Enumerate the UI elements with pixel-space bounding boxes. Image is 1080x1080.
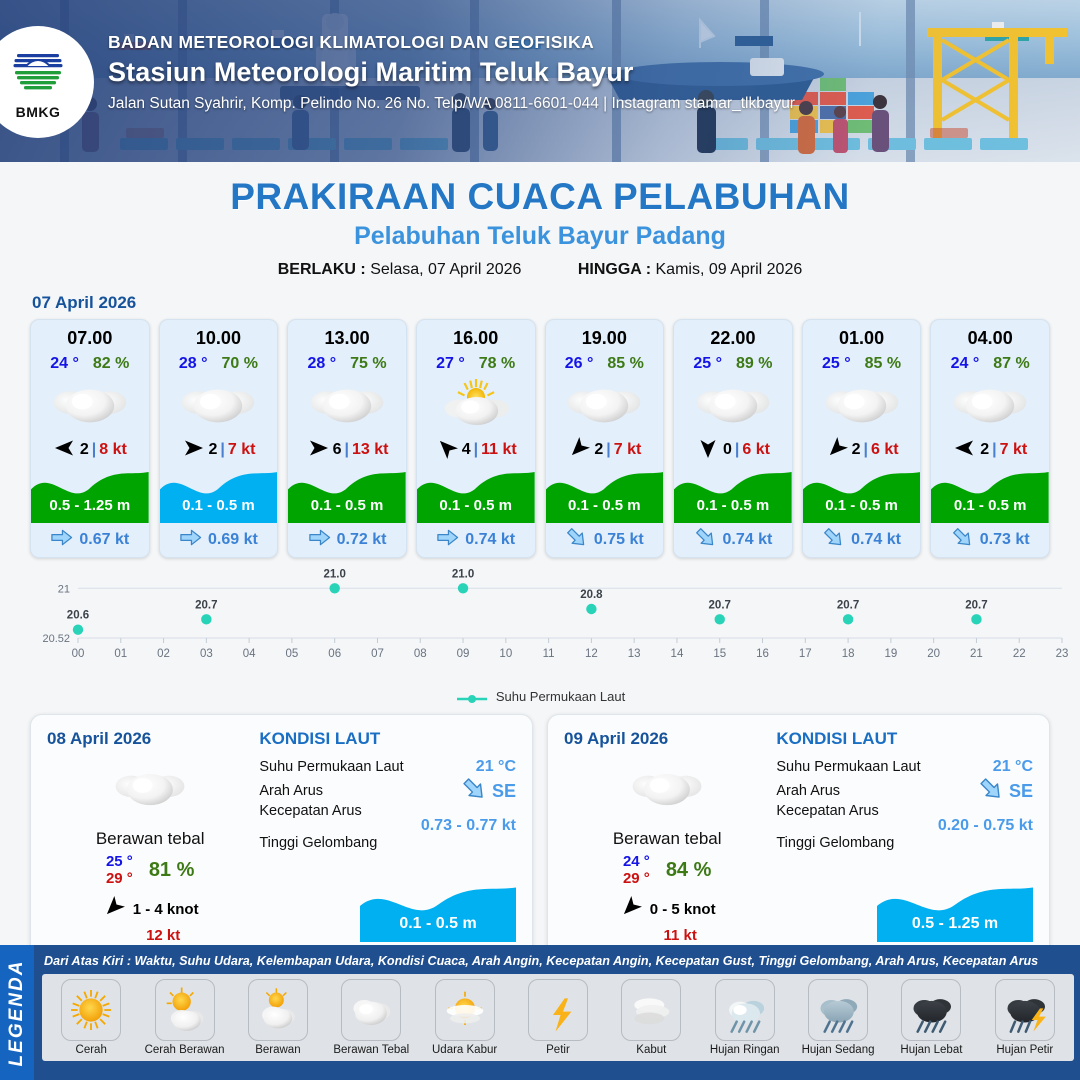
cloud-sun-small-icon — [248, 979, 308, 1041]
page-header: BMKG BADAN METEOROLOGI KLIMATOLOGI DAN G… — [0, 0, 1080, 162]
current-direction-arrow-icon — [50, 526, 73, 554]
legend-item: Udara Kabur — [419, 979, 509, 1056]
hourly-date-label: 07 April 2026 — [32, 293, 1080, 313]
card-weather-icon — [417, 373, 535, 435]
hourly-card: 04.00 24 ° 87 % 2 | 7 kt 0.1 - 0.5 m — [930, 319, 1050, 558]
title-block: PRAKIRAAN CUACA PELABUHAN Pelabuhan Telu… — [0, 162, 1080, 279]
current-direction-arrow-icon — [978, 776, 1004, 806]
card-wind-row: 2 | 7 kt — [160, 435, 278, 465]
legend-item-label: Hujan Lebat — [900, 1044, 962, 1056]
card-temperature: 25 ° — [693, 355, 722, 373]
daily-temp-max: 29 ° — [623, 870, 650, 887]
card-wave: 0.5 - 1.25 m — [31, 465, 149, 523]
haze-icon — [435, 979, 495, 1041]
hourly-card: 01.00 25 ° 85 % 2 | 6 kt 0.1 - 0.5 m — [802, 319, 922, 558]
svg-text:20.7: 20.7 — [837, 599, 859, 611]
card-wind-row: 2 | 8 kt — [31, 435, 149, 465]
hourly-card: 13.00 28 ° 75 % 6 | 13 kt 0.1 - 0.5 m — [287, 319, 407, 558]
header-text-block: BADAN METEOROLOGI KLIMATOLOGI DAN GEOFIS… — [108, 32, 795, 113]
current-direction-label: Arah Arus — [259, 783, 323, 799]
card-time: 04.00 — [931, 320, 1049, 349]
wind-separator: | — [863, 441, 867, 459]
svg-text:21: 21 — [970, 648, 983, 660]
legend-item: Hujan Ringan — [700, 979, 790, 1056]
card-humidity: 85 % — [865, 355, 901, 373]
card-current-row: 0.73 kt — [931, 523, 1049, 557]
card-wind-row: 0 | 6 kt — [674, 435, 792, 465]
card-wind-speed: 2 — [208, 441, 217, 459]
card-gust: 6 kt — [742, 441, 770, 459]
legend-side-title: LEGENDA — [0, 945, 34, 1080]
cloud-thick-icon — [341, 979, 401, 1041]
wind-direction-arrow-icon — [825, 436, 849, 465]
svg-text:20.6: 20.6 — [67, 610, 89, 622]
legend-bar: LEGENDA Dari Atas Kiri : Waktu, Suhu Uda… — [0, 945, 1080, 1080]
daily-gust: 11 kt — [564, 927, 770, 944]
card-humidity: 75 % — [350, 355, 386, 373]
svg-text:22: 22 — [1013, 648, 1026, 660]
wind-direction-arrow-icon — [953, 436, 977, 465]
current-direction-arrow-icon — [461, 776, 487, 806]
card-weather-icon — [674, 373, 792, 435]
card-current-speed: 0.74 kt — [465, 531, 515, 549]
wind-separator: | — [606, 441, 610, 459]
current-direction-value: SE — [492, 781, 516, 802]
card-wind-speed: 4 — [462, 441, 471, 459]
daily-humidity: 81 % — [149, 859, 195, 882]
thunderstorm-icon — [995, 979, 1055, 1041]
legend-item-label: Hujan Sedang — [802, 1044, 875, 1056]
sst-chart: 20.5221000102030405060708091011121314151… — [0, 568, 1080, 693]
legend-item-label: Cerah Berawan — [145, 1044, 225, 1056]
legend-note: Dari Atas Kiri : Waktu, Suhu Udara, Kele… — [42, 949, 1074, 974]
card-wind-speed: 2 — [852, 441, 861, 459]
card-temperature: 28 ° — [308, 355, 337, 373]
svg-text:20.8: 20.8 — [580, 589, 603, 601]
card-gust: 11 kt — [481, 441, 517, 459]
svg-text:10: 10 — [499, 648, 512, 660]
daily-condition: Berawan tebal — [564, 829, 770, 849]
legend-item-label: Berawan Tebal — [333, 1044, 409, 1056]
card-weather-icon — [931, 373, 1049, 435]
legend-item: Hujan Sedang — [793, 979, 883, 1056]
legend-item: Kabut — [606, 979, 696, 1056]
legend-item: Hujan Petir — [980, 979, 1070, 1056]
card-wave: 0.1 - 0.5 m — [674, 465, 792, 523]
svg-text:20.52: 20.52 — [42, 633, 70, 645]
moderate-rain-icon — [808, 979, 868, 1041]
valid-to-value: Kamis, 09 April 2026 — [656, 261, 803, 278]
card-current-row: 0.74 kt — [417, 523, 535, 557]
card-weather-icon — [803, 373, 921, 435]
card-current-row: 0.74 kt — [803, 523, 921, 557]
legend-item-label: Hujan Ringan — [710, 1044, 780, 1056]
card-humidity: 89 % — [736, 355, 772, 373]
daily-temp-min: 25 ° — [106, 853, 133, 870]
lightning-icon — [528, 979, 588, 1041]
current-direction-arrow-icon — [951, 526, 974, 554]
card-wave: 0.1 - 0.5 m — [803, 465, 921, 523]
card-humidity: 85 % — [607, 355, 643, 373]
card-wave: 0.1 - 0.5 m — [931, 465, 1049, 523]
wind-separator: | — [92, 441, 96, 459]
legend-item-label: Udara Kabur — [432, 1044, 497, 1056]
card-temperature: 24 ° — [951, 355, 980, 373]
valid-from: BERLAKU : Selasa, 07 April 2026 — [278, 261, 522, 279]
station-contact: Jalan Sutan Syahrir, Komp. Pelindo No. 2… — [108, 95, 795, 113]
card-wave-height: 0.1 - 0.5 m — [160, 497, 278, 514]
daily-wave-graphic: 0.5 - 1.25 m — [877, 880, 1033, 942]
card-time: 19.00 — [546, 320, 664, 349]
card-time: 13.00 — [288, 320, 406, 349]
card-current-row: 0.69 kt — [160, 523, 278, 557]
card-current-speed: 0.67 kt — [79, 531, 129, 549]
card-current-speed: 0.74 kt — [851, 531, 901, 549]
card-time: 07.00 — [31, 320, 149, 349]
daily-wave-value: 0.1 - 0.5 m — [360, 915, 516, 933]
svg-text:23: 23 — [1056, 648, 1069, 660]
card-wave-height: 0.1 - 0.5 m — [546, 497, 664, 514]
svg-text:16: 16 — [756, 648, 769, 660]
daily-humidity: 84 % — [666, 859, 712, 882]
wind-direction-arrow-icon — [696, 436, 720, 465]
valid-from-label: BERLAKU : — [278, 261, 366, 278]
svg-text:08: 08 — [414, 648, 427, 660]
current-direction-arrow-icon — [436, 526, 459, 554]
svg-text:02: 02 — [157, 648, 170, 660]
daily-weather-icon — [564, 757, 770, 819]
legend-item: Cerah — [46, 979, 136, 1056]
daily-weather-icon — [47, 757, 253, 819]
card-wave-height: 0.1 - 0.5 m — [803, 497, 921, 514]
svg-text:12: 12 — [585, 648, 598, 660]
card-wind-row: 6 | 13 kt — [288, 435, 406, 465]
svg-text:00: 00 — [72, 648, 85, 660]
svg-text:18: 18 — [842, 648, 855, 660]
hourly-card: 16.00 27 ° 78 % 4 | 11 kt — [416, 319, 536, 558]
card-current-row: 0.75 kt — [546, 523, 664, 557]
legend-items: Cerah Cerah Berawan — [42, 974, 1074, 1061]
card-wind-speed: 6 — [333, 441, 342, 459]
sst-value: 21 °C — [993, 758, 1033, 776]
svg-text:20.7: 20.7 — [709, 599, 731, 611]
card-weather-icon — [546, 373, 664, 435]
daily-date: 08 April 2026 — [47, 729, 253, 749]
page-title: PRAKIRAAN CUACA PELABUHAN — [0, 176, 1080, 218]
legend-item-label: Kabut — [636, 1044, 666, 1056]
card-weather-icon — [31, 373, 149, 435]
sst-label: Suhu Permukaan Laut — [259, 759, 403, 775]
current-direction-arrow-icon — [308, 526, 331, 554]
card-wave: 0.1 - 0.5 m — [546, 465, 664, 523]
fog-icon — [621, 979, 681, 1041]
hourly-forecast-row: 07.00 24 ° 82 % 2 | 8 kt 0.5 - 1.25 m — [0, 319, 1080, 558]
legend-item-label: Berawan — [255, 1044, 300, 1056]
card-wind-row: 2 | 7 kt — [931, 435, 1049, 465]
legend-item-label: Petir — [546, 1044, 570, 1056]
daily-wind-row: 1 - 4 knot — [47, 895, 253, 923]
card-time: 16.00 — [417, 320, 535, 349]
card-wave-height: 0.1 - 0.5 m — [288, 497, 406, 514]
sun-cloud-icon — [155, 979, 215, 1041]
card-gust: 7 kt — [228, 441, 256, 459]
sea-condition-title: KONDISI LAUT — [259, 729, 516, 749]
card-time: 22.00 — [674, 320, 792, 349]
hourly-card: 22.00 25 ° 89 % 0 | 6 kt 0.1 - 0.5 m — [673, 319, 793, 558]
wind-direction-arrow-icon — [181, 436, 205, 465]
svg-text:01: 01 — [114, 648, 127, 660]
daily-gust: 12 kt — [47, 927, 253, 944]
daily-forecast-panel: 08 April 2026 Berawan tebal 25 ° 29 ° 81… — [30, 714, 533, 959]
legend-item: Petir — [513, 979, 603, 1056]
bmkg-logo-text: BMKG — [16, 104, 61, 120]
svg-text:21.0: 21.0 — [324, 568, 346, 580]
daily-temp-min: 24 ° — [623, 853, 650, 870]
current-direction-arrow-icon — [694, 526, 717, 554]
card-current-speed: 0.72 kt — [337, 531, 387, 549]
daily-forecast-row: 08 April 2026 Berawan tebal 25 ° 29 ° 81… — [0, 704, 1080, 959]
svg-text:20: 20 — [927, 648, 940, 660]
card-wind-row: 2 | 6 kt — [803, 435, 921, 465]
current-direction-arrow-icon — [565, 526, 588, 554]
card-humidity: 82 % — [93, 355, 129, 373]
svg-text:17: 17 — [799, 648, 812, 660]
card-gust: 6 kt — [871, 441, 899, 459]
legend-item: Cerah Berawan — [139, 979, 229, 1056]
station-name: Stasiun Meteorologi Maritim Teluk Bayur — [108, 57, 795, 88]
card-gust: 8 kt — [99, 441, 127, 459]
card-current-row: 0.72 kt — [288, 523, 406, 557]
legend-item: Hujan Lebat — [886, 979, 976, 1056]
card-wave-height: 0.1 - 0.5 m — [931, 497, 1049, 514]
daily-wind-row: 0 - 5 knot — [564, 895, 770, 923]
sea-condition-title: KONDISI LAUT — [776, 729, 1033, 749]
legend-item-label: Cerah — [76, 1044, 107, 1056]
card-wind-row: 2 | 7 kt — [546, 435, 664, 465]
daily-wind-range: 1 - 4 knot — [133, 901, 199, 918]
svg-text:13: 13 — [628, 648, 641, 660]
wind-direction-arrow-icon — [567, 436, 591, 465]
daily-wave-value: 0.5 - 1.25 m — [877, 915, 1033, 933]
svg-text:07: 07 — [371, 648, 384, 660]
card-temperature: 27 ° — [436, 355, 465, 373]
agency-name: BADAN METEOROLOGI KLIMATOLOGI DAN GEOFIS… — [108, 32, 795, 53]
bmkg-emblem-icon — [8, 45, 68, 103]
svg-text:14: 14 — [671, 648, 684, 660]
wind-separator: | — [220, 441, 224, 459]
daily-wind-range: 0 - 5 knot — [650, 901, 716, 918]
wind-direction-arrow-icon — [619, 895, 643, 923]
heavy-rain-icon — [901, 979, 961, 1041]
card-wave: 0.1 - 0.5 m — [288, 465, 406, 523]
card-wave-height: 0.5 - 1.25 m — [31, 497, 149, 514]
card-weather-icon — [288, 373, 406, 435]
wind-direction-arrow-icon — [53, 436, 77, 465]
svg-text:09: 09 — [457, 648, 470, 660]
svg-text:03: 03 — [200, 648, 213, 660]
daily-forecast-panel: 09 April 2026 Berawan tebal 24 ° 29 ° 84… — [547, 714, 1050, 959]
current-direction-arrow-icon — [822, 526, 845, 554]
card-wave-height: 0.1 - 0.5 m — [417, 497, 535, 514]
wind-separator: | — [992, 441, 996, 459]
current-direction-arrow-icon — [179, 526, 202, 554]
card-current-row: 0.74 kt — [674, 523, 792, 557]
card-weather-icon — [160, 373, 278, 435]
wind-direction-arrow-icon — [306, 436, 330, 465]
valid-from-value: Selasa, 07 April 2026 — [370, 261, 521, 278]
daily-wave-graphic: 0.1 - 0.5 m — [360, 880, 516, 942]
svg-text:21.0: 21.0 — [452, 568, 474, 580]
wind-separator: | — [735, 441, 739, 459]
daily-condition: Berawan tebal — [47, 829, 253, 849]
svg-text:21: 21 — [58, 583, 70, 595]
hourly-card: 10.00 28 ° 70 % 2 | 7 kt 0.1 - 0.5 m — [159, 319, 279, 558]
card-current-speed: 0.69 kt — [208, 531, 258, 549]
card-wind-speed: 2 — [980, 441, 989, 459]
valid-to-label: HINGGA : — [578, 261, 651, 278]
card-temperature: 25 ° — [822, 355, 851, 373]
card-wind-speed: 0 — [723, 441, 732, 459]
svg-text:04: 04 — [243, 648, 256, 660]
card-humidity: 70 % — [222, 355, 258, 373]
hourly-card: 07.00 24 ° 82 % 2 | 8 kt 0.5 - 1.25 m — [30, 319, 150, 558]
svg-text:20.7: 20.7 — [195, 599, 217, 611]
card-humidity: 78 % — [479, 355, 515, 373]
svg-text:19: 19 — [884, 648, 897, 660]
wave-height-label: Tinggi Gelombang — [776, 835, 894, 851]
card-humidity: 87 % — [993, 355, 1029, 373]
wind-separator: | — [474, 441, 478, 459]
daily-temp-max: 29 ° — [106, 870, 133, 887]
card-time: 10.00 — [160, 320, 278, 349]
card-temperature: 26 ° — [565, 355, 594, 373]
light-rain-icon — [715, 979, 775, 1041]
legend-item-label: Hujan Petir — [996, 1044, 1053, 1056]
card-wave-height: 0.1 - 0.5 m — [674, 497, 792, 514]
hourly-card: 19.00 26 ° 85 % 2 | 7 kt 0.1 - 0.5 m — [545, 319, 665, 558]
wind-separator: | — [345, 441, 349, 459]
card-gust: 7 kt — [614, 441, 642, 459]
card-gust: 7 kt — [1000, 441, 1028, 459]
legend-marker-icon — [455, 692, 489, 702]
legend-item: Berawan — [233, 979, 323, 1056]
sun-icon — [61, 979, 121, 1041]
wind-direction-arrow-icon — [102, 895, 126, 923]
wave-height-label: Tinggi Gelombang — [259, 835, 377, 851]
card-wind-row: 4 | 11 kt — [417, 435, 535, 465]
card-wind-speed: 2 — [594, 441, 603, 459]
card-temperature: 28 ° — [179, 355, 208, 373]
card-time: 01.00 — [803, 320, 921, 349]
sst-value: 21 °C — [476, 758, 516, 776]
card-current-speed: 0.75 kt — [594, 531, 644, 549]
card-temperature: 24 ° — [50, 355, 79, 373]
card-current-row: 0.67 kt — [31, 523, 149, 557]
validity-row: BERLAKU : Selasa, 07 April 2026 HINGGA :… — [0, 261, 1080, 279]
current-direction-label: Arah Arus — [776, 783, 840, 799]
card-wind-speed: 2 — [80, 441, 89, 459]
current-direction-value: SE — [1009, 781, 1033, 802]
svg-text:05: 05 — [286, 648, 299, 660]
card-current-speed: 0.73 kt — [980, 531, 1030, 549]
daily-date: 09 April 2026 — [564, 729, 770, 749]
card-current-speed: 0.74 kt — [723, 531, 773, 549]
svg-text:06: 06 — [328, 648, 341, 660]
legend-side-text: LEGENDA — [6, 959, 28, 1066]
sst-label: Suhu Permukaan Laut — [776, 759, 920, 775]
page-subtitle: Pelabuhan Teluk Bayur Padang — [0, 222, 1080, 251]
valid-to: HINGGA : Kamis, 09 April 2026 — [578, 261, 802, 279]
card-wave: 0.1 - 0.5 m — [417, 465, 535, 523]
card-wave: 0.1 - 0.5 m — [160, 465, 278, 523]
card-gust: 13 kt — [352, 441, 388, 459]
svg-text:11: 11 — [543, 648, 555, 660]
svg-text:15: 15 — [713, 648, 726, 660]
wind-direction-arrow-icon — [435, 436, 459, 465]
legend-item: Berawan Tebal — [326, 979, 416, 1056]
svg-text:20.7: 20.7 — [965, 599, 987, 611]
